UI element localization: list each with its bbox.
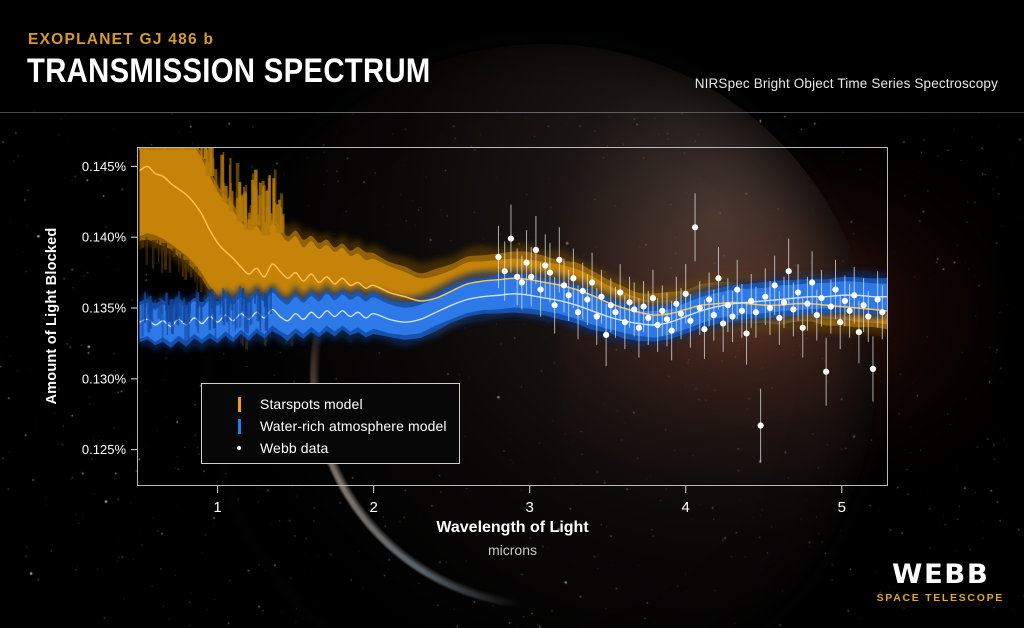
- data-point: [875, 296, 881, 302]
- water-swatch-icon: [228, 419, 250, 434]
- data-point: [580, 288, 586, 294]
- data-point: [640, 303, 646, 309]
- data-point: [669, 328, 675, 334]
- data-point: [860, 302, 866, 308]
- data-point: [753, 309, 759, 315]
- data-point: [598, 294, 604, 300]
- data-point: [767, 305, 773, 311]
- data-point: [879, 309, 885, 315]
- data-point: [832, 287, 838, 293]
- data-point: [622, 319, 628, 325]
- data-point: [828, 303, 834, 309]
- data-point: [804, 301, 810, 307]
- data-point: [542, 262, 548, 268]
- infographic-canvas: EXOPLANET GJ 486 b TRANSMISSION SPECTRUM…: [0, 0, 1024, 628]
- legend: Starspots model Water-rich atmosphere mo…: [201, 383, 460, 464]
- y-tick-label: 0.130%: [82, 371, 127, 386]
- data-point: [683, 291, 689, 297]
- data-point: [748, 298, 754, 304]
- data-point: [818, 295, 824, 301]
- data-point: [725, 302, 731, 308]
- legend-item-water[interactable]: Water-rich atmosphere model: [202, 415, 459, 437]
- x-axis-units: microns: [137, 542, 888, 558]
- legend-item-webb-data[interactable]: Webb data: [202, 437, 459, 459]
- y-axis-label: Amount of Light Blocked: [44, 196, 60, 436]
- data-point: [655, 322, 661, 328]
- y-tick-label: 0.145%: [82, 159, 127, 174]
- data-point: [608, 302, 614, 308]
- data-point: [772, 282, 778, 288]
- data-point: [711, 312, 717, 318]
- data-point: [523, 260, 529, 266]
- instrument-subtitle: NIRSpec Bright Object Time Series Spectr…: [695, 76, 998, 91]
- webb-wordmark: WEBB: [875, 559, 1005, 590]
- data-point: [776, 315, 782, 321]
- webb-tagline: SPACE TELESCOPE: [877, 592, 1004, 604]
- y-tick-label: 0.125%: [82, 442, 127, 457]
- data-point: [800, 325, 806, 331]
- data-point: [664, 316, 670, 322]
- data-point: [645, 315, 651, 321]
- data-point: [537, 287, 543, 293]
- data-point: [842, 298, 848, 304]
- data-point: [626, 299, 632, 305]
- data-point: [528, 274, 534, 280]
- data-point: [650, 295, 656, 301]
- data-point: [636, 325, 642, 331]
- data-point: [508, 236, 514, 242]
- data-point-swatch-icon: [228, 446, 250, 450]
- webb-logo: WEBB SPACE TELESCOPE: [877, 559, 1004, 604]
- starspots-swatch-icon: [228, 397, 250, 412]
- legend-label: Webb data: [260, 440, 328, 456]
- data-point: [697, 305, 703, 311]
- data-point: [575, 309, 581, 315]
- data-point: [851, 292, 857, 298]
- legend-label: Starspots model: [260, 396, 363, 412]
- data-point: [617, 289, 623, 295]
- data-point: [570, 275, 576, 281]
- data-point: [495, 254, 501, 260]
- data-point: [739, 308, 745, 314]
- data-point: [631, 306, 637, 312]
- data-point: [673, 301, 679, 307]
- data-point: [837, 319, 843, 325]
- data-point: [659, 308, 665, 314]
- header: EXOPLANET GJ 486 b TRANSMISSION SPECTRUM…: [0, 0, 1024, 113]
- x-axis-label: Wavelength of Light: [137, 519, 888, 537]
- data-point: [758, 422, 764, 428]
- data-point: [729, 313, 735, 319]
- data-point: [814, 312, 820, 318]
- data-point: [846, 308, 852, 314]
- data-point: [612, 309, 618, 315]
- legend-label: Water-rich atmosphere model: [260, 418, 447, 434]
- data-point: [561, 282, 567, 288]
- eyebrow-label: EXOPLANET GJ 486 b: [28, 31, 214, 49]
- y-tick-label: 0.135%: [82, 301, 127, 316]
- data-point: [701, 326, 707, 332]
- data-point: [706, 296, 712, 302]
- data-point: [870, 366, 876, 372]
- data-point: [781, 299, 787, 305]
- data-point: [678, 311, 684, 317]
- data-point: [720, 320, 726, 326]
- legend-item-starspots[interactable]: Starspots model: [202, 393, 459, 415]
- data-point: [856, 329, 862, 335]
- data-point: [556, 257, 562, 263]
- data-point: [786, 268, 792, 274]
- data-point: [865, 313, 871, 319]
- data-point: [514, 274, 520, 280]
- page-title: TRANSMISSION SPECTRUM: [27, 54, 431, 90]
- data-point: [790, 306, 796, 312]
- data-point: [743, 330, 749, 336]
- data-point: [584, 296, 590, 302]
- data-point: [589, 279, 595, 285]
- x-tick-label: 1: [213, 499, 221, 516]
- data-point: [823, 369, 829, 375]
- data-point: [502, 268, 508, 274]
- data-point: [594, 313, 600, 319]
- data-point: [795, 289, 801, 295]
- data-point: [715, 275, 721, 281]
- data-point: [692, 224, 698, 230]
- data-point: [519, 279, 525, 285]
- data-point: [603, 332, 609, 338]
- y-tick-label: 0.140%: [82, 230, 127, 245]
- header-divider: [0, 112, 1024, 113]
- data-point: [762, 294, 768, 300]
- data-point: [734, 287, 740, 293]
- data-point: [547, 270, 553, 276]
- data-point: [566, 292, 572, 298]
- data-point: [809, 279, 815, 285]
- data-point: [552, 302, 558, 308]
- data-point: [533, 247, 539, 253]
- data-point: [687, 318, 693, 324]
